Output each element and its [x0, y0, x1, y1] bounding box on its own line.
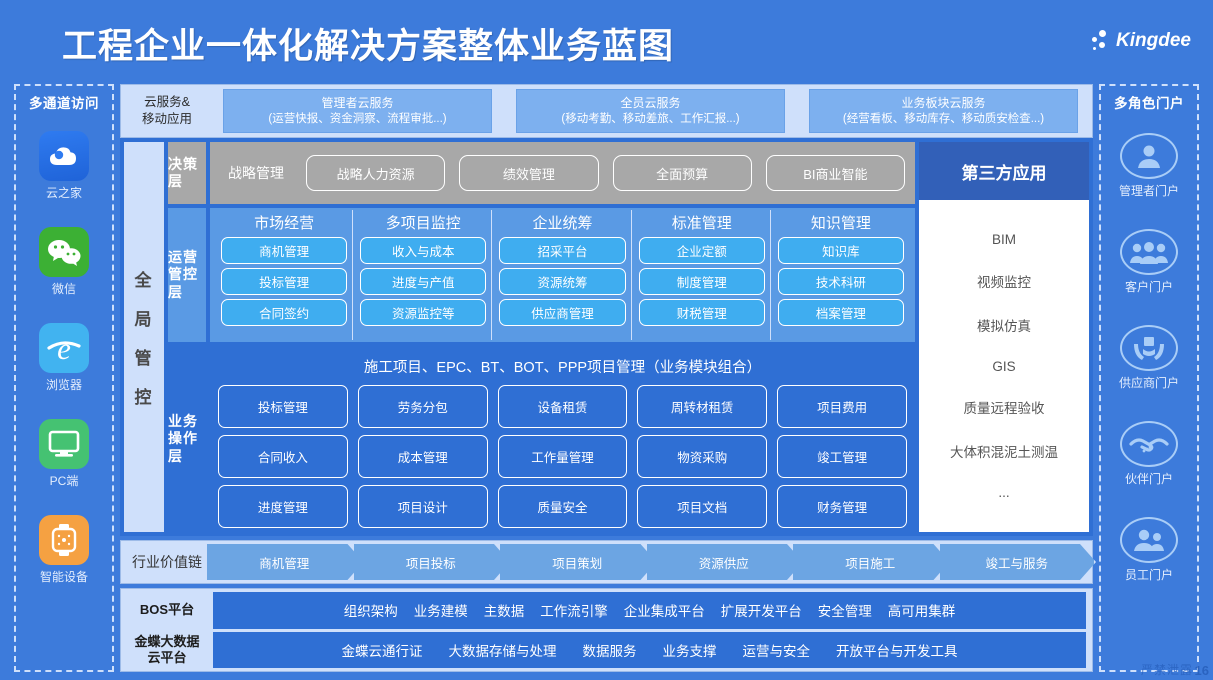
person-icon — [1120, 133, 1178, 179]
platform-item[interactable]: 运营与安全 — [743, 640, 811, 660]
platform-foundation: BOS平台 组织架构 业务建模 主数据 工作流引擎 企业集成平台 扩展开发平台 … — [120, 588, 1093, 672]
channel-label: 智能设备 — [40, 568, 88, 585]
kingdee-dots-icon — [1091, 30, 1111, 52]
platform-item[interactable]: 企业集成平台 — [624, 600, 705, 620]
platform-item[interactable]: 安全管理 — [818, 600, 872, 620]
third-party-item: ... — [998, 485, 1009, 500]
channel-label: 浏览器 — [46, 376, 82, 393]
layers-stack: 决策层 战略管理 战略人力资源 绩效管理 全面预算 BI商业智能 运营管控层 — [168, 142, 915, 532]
right-rail-title: 多角色门户 — [1114, 92, 1184, 112]
platform-item[interactable]: 业务建模 — [414, 600, 468, 620]
left-rail-title: 多通道访问 — [29, 92, 99, 112]
biz-chip[interactable]: 投标管理 — [218, 385, 348, 428]
channel-item-pc[interactable]: PC端 — [39, 406, 89, 502]
cloud-band-label: 云服务& 移动应用 — [127, 94, 207, 128]
platform-item[interactable]: 业务支撑 — [663, 640, 717, 660]
ops-column-standard: 标准管理 企业定额 制度管理 财税管理 — [634, 210, 771, 340]
architecture-center: 云服务& 移动应用 管理者云服务 (运营快报、资金洞察、流程审批...) 全员云… — [118, 84, 1095, 672]
global-control-label: 全 局 管 控 — [124, 142, 164, 532]
platform-row-bigdata: 金蝶大数据 云平台 金蝶云通行证 大数据存储与处理 数据服务 业务支撑 运营与安… — [127, 632, 1086, 669]
industry-value-chain: 行业价值链 商机管理 项目投标 项目策划 资源供应 项目施工 竣工与服务 — [120, 540, 1093, 584]
ops-column-head: 企业统筹 — [499, 212, 625, 233]
platform-label: 金蝶大数据 云平台 — [127, 634, 207, 667]
page-number: 16 — [1195, 663, 1209, 678]
operations-layer-tag: 运营管控层 — [168, 208, 206, 342]
ops-chip[interactable]: 资源监控等 — [360, 299, 486, 326]
platform-item[interactable]: 高可用集群 — [888, 600, 956, 620]
decision-layer-tag: 决策层 — [168, 142, 206, 204]
third-party-list: BIM 视频监控 模拟仿真 GIS 质量远程验收 大体积混泥土测温 ... — [919, 200, 1089, 532]
ops-chip[interactable]: 商机管理 — [221, 237, 347, 264]
ops-chip[interactable]: 招采平台 — [499, 237, 625, 264]
third-party-apps-panel: 第三方应用 BIM 视频监控 模拟仿真 GIS 质量远程验收 大体积混泥土测温 … — [919, 142, 1089, 532]
business-layer-head: 施工项目、EPC、BT、BOT、PPP项目管理（业务模块组合） — [218, 356, 907, 377]
value-chain-step[interactable]: 资源供应 — [647, 544, 804, 580]
ops-chip[interactable]: 企业定额 — [639, 237, 765, 264]
portal-item-partner[interactable]: 伙伴门户 — [1120, 406, 1178, 502]
ops-chip[interactable]: 档案管理 — [778, 299, 904, 326]
ops-chip[interactable]: 进度与产值 — [360, 268, 486, 295]
portal-label: 员工门户 — [1125, 566, 1173, 583]
kingdee-wordmark: Kingdee — [1116, 30, 1191, 52]
biz-chip[interactable]: 财务管理 — [777, 485, 907, 528]
cloud-services-band: 云服务& 移动应用 管理者云服务 (运营快报、资金洞察、流程审批...) 全员云… — [120, 84, 1093, 138]
value-chain-step[interactable]: 项目施工 — [793, 544, 950, 580]
cloud-card-title: 管理者云服务 — [321, 95, 393, 112]
platform-item[interactable]: 开放平台与开发工具 — [836, 640, 958, 660]
ops-column-head: 知识管理 — [778, 212, 904, 233]
cloud-icon — [39, 131, 89, 181]
platform-item[interactable]: 数据服务 — [583, 640, 637, 660]
portal-item-employee[interactable]: 员工门户 — [1120, 502, 1178, 598]
wechat-icon — [39, 227, 89, 277]
biz-chip[interactable]: 物资采购 — [637, 435, 767, 478]
channel-item-wechat[interactable]: 微信 — [39, 214, 89, 310]
ops-column-head: 标准管理 — [639, 212, 765, 233]
portal-item-customer[interactable]: 客户门户 — [1120, 214, 1178, 310]
operations-control-layer: 运营管控层 市场经营 商机管理 投标管理 合同签约 多项目监控 收入与成本 进度… — [168, 208, 915, 342]
cloud-card-all-staff[interactable]: 全员云服务 (移动考勤、移动差旅、工作汇报...) — [516, 89, 785, 133]
platform-items-bar: 组织架构 业务建模 主数据 工作流引擎 企业集成平台 扩展开发平台 安全管理 高… — [213, 592, 1086, 629]
third-party-item[interactable]: 质量远程验收 — [964, 397, 1045, 417]
confidential-watermark: 严禁泄露 — [1141, 661, 1193, 678]
channel-item-browser[interactable]: e 浏览器 — [39, 310, 89, 406]
ops-chip[interactable]: 投标管理 — [221, 268, 347, 295]
biz-chip[interactable]: 劳务分包 — [358, 385, 488, 428]
decision-chip-strategic-hr[interactable]: 战略人力资源 — [306, 155, 445, 191]
business-operation-layer: 业务操作层 施工项目、EPC、BT、BOT、PPP项目管理（业务模块组合） 投标… — [168, 346, 915, 532]
cloud-card-business[interactable]: 业务板块云服务 (经营看板、移动库存、移动质安检查...) — [809, 89, 1078, 133]
value-chain-label: 行业价值链 — [127, 552, 207, 572]
channel-label: 云之家 — [46, 184, 82, 201]
portal-label: 伙伴门户 — [1125, 470, 1173, 487]
portal-item-supplier[interactable]: 供应商门户 — [1119, 310, 1179, 406]
biz-chip[interactable]: 设备租赁 — [498, 385, 628, 428]
channel-label: PC端 — [50, 472, 79, 489]
ops-chip[interactable]: 资源统筹 — [499, 268, 625, 295]
ops-chip[interactable]: 收入与成本 — [360, 237, 486, 264]
biz-chip[interactable]: 项目费用 — [777, 385, 907, 428]
channel-label: 微信 — [52, 280, 76, 297]
channel-item-smart-device[interactable]: 智能设备 — [39, 502, 89, 598]
ops-column-head: 多项目监控 — [360, 212, 486, 233]
value-chain-step[interactable]: 项目策划 — [500, 544, 657, 580]
decision-layer: 决策层 战略管理 战略人力资源 绩效管理 全面预算 BI商业智能 — [168, 142, 915, 204]
platform-item[interactable]: 金蝶云通行证 — [342, 640, 423, 660]
third-party-item[interactable]: BIM — [992, 232, 1016, 247]
ops-chip[interactable]: 合同签约 — [221, 299, 347, 326]
ops-chip[interactable]: 技术科研 — [778, 268, 904, 295]
value-chain-step[interactable]: 商机管理 — [207, 544, 364, 580]
platform-label: BOS平台 — [127, 602, 207, 618]
biz-chip[interactable]: 周转材租赁 — [637, 385, 767, 428]
platform-item[interactable]: 大数据存储与处理 — [449, 640, 557, 660]
ops-column-knowledge: 知识管理 知识库 技术科研 档案管理 — [773, 210, 909, 340]
ops-column-enterprise: 企业统筹 招采平台 资源统筹 供应商管理 — [494, 210, 631, 340]
architecture-layers-region: 全 局 管 控 决策层 战略管理 战略人力资源 绩效管理 全面预算 BI商业智能 — [120, 138, 1093, 536]
portal-label: 管理者门户 — [1119, 182, 1179, 199]
platform-item[interactable]: 主数据 — [484, 600, 525, 620]
business-chip-grid: 投标管理 劳务分包 设备租赁 周转材租赁 项目费用 合同收入 成本管理 工作量管… — [218, 385, 907, 528]
third-party-title: 第三方应用 — [919, 142, 1089, 200]
business-layer-tag: 业务操作层 — [168, 346, 206, 532]
biz-chip[interactable]: 竣工管理 — [777, 435, 907, 478]
group-icon — [1120, 517, 1178, 563]
page-body: 多通道访问 云之家 — [0, 84, 1213, 672]
third-party-item[interactable]: 模拟仿真 — [977, 315, 1031, 335]
biz-chip[interactable]: 成本管理 — [358, 435, 488, 478]
ops-column-multiproject: 多项目监控 收入与成本 进度与产值 资源监控等 — [355, 210, 492, 340]
ops-chip[interactable]: 知识库 — [778, 237, 904, 264]
handshake-icon — [1120, 421, 1178, 467]
browser-icon: e — [39, 323, 89, 373]
portal-label: 供应商门户 — [1119, 374, 1179, 391]
channel-item-yunzhijia[interactable]: 云之家 — [39, 118, 89, 214]
third-party-item[interactable]: GIS — [992, 359, 1015, 374]
platform-item[interactable]: 工作流引擎 — [540, 600, 608, 620]
biz-chip[interactable]: 项目文档 — [637, 485, 767, 528]
ops-column-market: 市场经营 商机管理 投标管理 合同签约 — [216, 210, 353, 340]
decision-chip-budget[interactable]: 全面预算 — [613, 155, 752, 191]
platform-item[interactable]: 组织架构 — [344, 600, 398, 620]
value-chain-step[interactable]: 项目投标 — [354, 544, 511, 580]
cloud-card-title: 全员云服务 — [620, 95, 680, 112]
decision-chip-performance[interactable]: 绩效管理 — [459, 155, 598, 191]
biz-chip[interactable]: 进度管理 — [218, 485, 348, 528]
cloud-card-subtitle: (经营看板、移动库存、移动质安检查...) — [843, 111, 1044, 127]
platform-items-bar: 金蝶云通行证 大数据存储与处理 数据服务 业务支撑 运营与安全 开放平台与开发工… — [213, 632, 1086, 669]
third-party-item[interactable]: 大体积混泥土测温 — [950, 441, 1058, 461]
portal-label: 客户门户 — [1125, 278, 1173, 295]
cloud-card-title: 业务板块云服务 — [901, 95, 985, 112]
portal-item-manager[interactable]: 管理者门户 — [1119, 118, 1179, 214]
page-title: 工程企业一体化解决方案整体业务蓝图 — [62, 18, 674, 69]
ops-chip[interactable]: 财税管理 — [639, 299, 765, 326]
page-header: 工程企业一体化解决方案整体业务蓝图 Kingdee — [0, 0, 1213, 84]
biz-chip[interactable]: 质量安全 — [498, 485, 628, 528]
platform-row-bos: BOS平台 组织架构 业务建模 主数据 工作流引擎 企业集成平台 扩展开发平台 … — [127, 592, 1086, 629]
cloud-card-subtitle: (移动考勤、移动差旅、工作汇报...) — [561, 111, 739, 127]
cloud-card-subtitle: (运营快报、资金洞察、流程审批...) — [268, 111, 446, 127]
desktop-icon — [39, 419, 89, 469]
multi-role-portal-rail: 多角色门户 管理者门户 — [1099, 84, 1199, 672]
smartwatch-icon — [39, 515, 89, 565]
kingdee-logo: Kingdee — [1091, 30, 1191, 52]
hands-box-icon — [1120, 325, 1178, 371]
biz-chip[interactable]: 合同收入 — [218, 435, 348, 478]
multi-channel-access-rail: 多通道访问 云之家 — [14, 84, 114, 672]
third-party-item[interactable]: 视频监控 — [977, 271, 1031, 291]
decision-layer-title: 战略管理 — [220, 163, 292, 183]
decision-chip-bi[interactable]: BI商业智能 — [766, 155, 905, 191]
value-chain-track: 商机管理 项目投标 项目策划 资源供应 项目施工 竣工与服务 — [207, 544, 1086, 580]
ops-chip[interactable]: 制度管理 — [639, 268, 765, 295]
platform-item[interactable]: 扩展开发平台 — [721, 600, 802, 620]
ops-chip[interactable]: 供应商管理 — [499, 299, 625, 326]
biz-chip[interactable]: 工作量管理 — [498, 435, 628, 478]
cloud-card-manager[interactable]: 管理者云服务 (运营快报、资金洞察、流程审批...) — [223, 89, 492, 133]
value-chain-step[interactable]: 竣工与服务 — [940, 544, 1097, 580]
people-icon — [1120, 229, 1178, 275]
biz-chip[interactable]: 项目设计 — [358, 485, 488, 528]
ops-column-head: 市场经营 — [221, 212, 347, 233]
svg-text:e: e — [57, 332, 71, 364]
